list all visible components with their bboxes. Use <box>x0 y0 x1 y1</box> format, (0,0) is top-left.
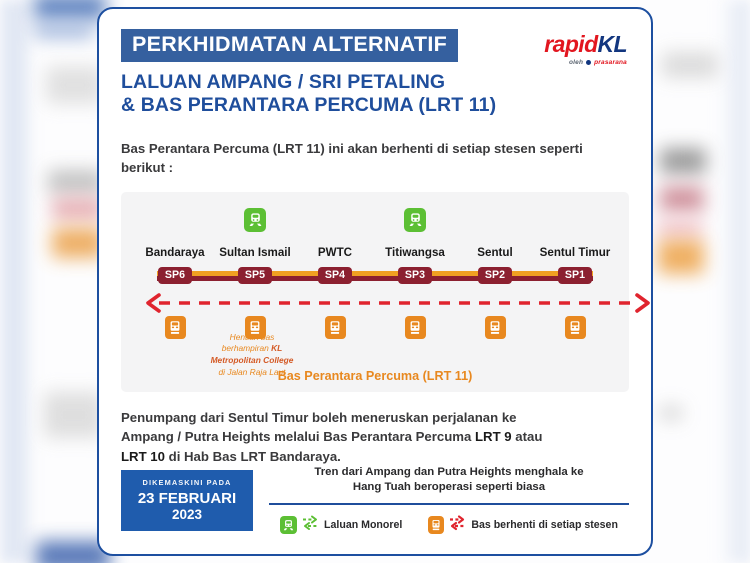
bus-icon <box>485 316 506 339</box>
page-subtitle: LALUAN AMPANG / SRI PETALING & BAS PERAN… <box>121 71 496 117</box>
body-line-1: Penumpang dari Sentul Timur boleh meneru… <box>121 408 629 428</box>
background-blob <box>658 218 702 240</box>
station-code-badge: SP1 <box>558 267 592 284</box>
monorail-slot <box>295 202 375 232</box>
title-block: PERKHIDMATAN ALTERNATIF LALUAN AMPANG / … <box>121 27 496 117</box>
body-line-2: Ampang / Putra Heights melalui Bas Peran… <box>121 427 629 447</box>
lrt-track: SP6 SP5 SP4 SP3 SP2 SP1 <box>135 265 615 287</box>
logo-tagline: oleh prasarana <box>544 59 627 66</box>
monorail-icon <box>280 516 297 534</box>
station-code-cell: SP3 <box>375 265 455 287</box>
station-name: Sentul <box>455 232 535 264</box>
last-updated-label: DIKEMASKINI PADA <box>127 478 247 487</box>
bus-icon <box>565 316 586 339</box>
legend-item-monorail: Laluan Monorel <box>280 514 402 536</box>
bus-stop-cell <box>455 316 535 339</box>
background-blob <box>46 66 104 104</box>
last-updated-date: 23 FEBRUARI <box>127 491 247 507</box>
logo-rapid-text: rapid <box>544 31 597 57</box>
station-code-cell: SP2 <box>455 265 535 287</box>
background-left-strip <box>0 0 32 563</box>
bus-direction-arrow <box>135 292 615 314</box>
bus-icon <box>405 316 426 339</box>
prasarana-dot-icon <box>586 60 591 65</box>
last-updated-year: 2023 <box>127 507 247 523</box>
last-updated-box: DIKEMASKINI PADA 23 FEBRUARI 2023 <box>121 470 253 531</box>
logo-wordmark: rapidKL <box>544 33 627 56</box>
red-dashed-arrows-icon <box>449 514 466 536</box>
legend: Laluan Monorel <box>269 514 629 536</box>
note-line-3: Metropolitan College <box>177 355 327 367</box>
station-code-badge: SP2 <box>478 267 512 284</box>
station-code-badge: SP4 <box>318 267 352 284</box>
intro-line-1: Bas Perantara Percuma (LRT 11) ini akan … <box>121 139 629 159</box>
station-name: Bandaraya <box>135 232 215 264</box>
background-blob <box>662 52 718 78</box>
bus-stop-cell <box>375 316 455 339</box>
background-blob <box>48 170 104 194</box>
logo-tagline-prefix: oleh <box>569 59 583 66</box>
body-line-2-a: Ampang / Putra Heights melalui Bas Peran… <box>121 429 475 444</box>
monorail-icon <box>244 208 266 232</box>
station-code-badge: SP6 <box>158 267 192 284</box>
monorail-icon-row <box>135 202 615 232</box>
green-dashed-arrows-icon <box>302 514 319 536</box>
legend-item-bus: Bas berhenti di setiap stesen <box>428 514 618 536</box>
footer-divider <box>269 503 629 505</box>
logo-tagline-brand: prasarana <box>594 59 627 66</box>
station-code-cell: SP5 <box>215 265 295 287</box>
station-name: Sultan Ismail <box>215 232 295 264</box>
bus-stop-cell <box>535 316 615 339</box>
diagram-caption: Bas Perantara Percuma (LRT 11) <box>121 369 629 383</box>
rapidkl-logo: rapidKL oleh prasarana <box>544 27 629 66</box>
footer-right: Tren dari Ampang dan Putra Heights mengh… <box>269 465 629 536</box>
card-header: PERKHIDMATAN ALTERNATIF LALUAN AMPANG / … <box>121 27 629 117</box>
background-blob <box>658 240 704 274</box>
note-line-3-bold: Metropolitan College <box>211 355 294 365</box>
monorail-icon <box>404 208 426 232</box>
body-line-2-lrt9: LRT 9 <box>475 429 512 444</box>
background-right-strip <box>720 0 750 563</box>
intro-text: Bas Perantara Percuma (LRT 11) ini akan … <box>121 139 629 178</box>
announcement-card: PERKHIDMATAN ALTERNATIF LALUAN AMPANG / … <box>97 7 653 556</box>
station-name-row: Bandaraya Sultan Ismail PWTC Titiwangsa … <box>135 232 615 264</box>
legend-label-bus: Bas berhenti di setiap stesen <box>471 519 618 531</box>
background-blob <box>660 148 706 174</box>
monorail-slot <box>535 202 615 232</box>
subtitle-line-2: & BAS PERANTARA PERCUMA (LRT 11) <box>121 94 496 117</box>
station-name: Titiwangsa <box>375 232 455 264</box>
station-code-cell: SP1 <box>535 265 615 287</box>
background-blob <box>660 186 704 212</box>
monorail-slot <box>375 202 455 232</box>
station-code-badge: SP5 <box>238 267 272 284</box>
background-blob <box>44 392 104 438</box>
bus-icon <box>325 316 346 339</box>
train-service-note: Tren dari Ampang dan Putra Heights mengh… <box>269 465 629 495</box>
note-line-2: berhampiran KL <box>177 343 327 355</box>
monorail-slot <box>215 202 295 232</box>
train-note-line-2: Hang Tuah beroperasi seperti biasa <box>269 480 629 495</box>
background-blob <box>34 0 106 20</box>
monorail-slot <box>135 202 215 232</box>
route-diagram-panel: Bandaraya Sultan Ismail PWTC Titiwangsa … <box>121 192 629 392</box>
legend-label-monorail: Laluan Monorel <box>324 519 402 531</box>
card-footer: DIKEMASKINI PADA 23 FEBRUARI 2023 Tren d… <box>121 465 629 536</box>
note-line-2-bold: KL <box>271 343 282 353</box>
station-code-row: SP6 SP5 SP4 SP3 SP2 SP1 <box>135 265 615 287</box>
station-code-badge: SP3 <box>398 267 432 284</box>
station-name: Sentul Timur <box>535 232 615 264</box>
station-name: PWTC <box>295 232 375 264</box>
station-code-cell: SP6 <box>135 265 215 287</box>
intro-line-2: berikut : <box>121 158 629 178</box>
note-line-1: Hentian bas <box>177 332 327 344</box>
subtitle-line-1: LALUAN AMPANG / SRI PETALING <box>121 71 496 94</box>
background-blob <box>34 24 94 38</box>
train-note-line-1: Tren dari Ampang dan Putra Heights mengh… <box>269 465 629 480</box>
body-paragraph: Penumpang dari Sentul Timur boleh meneru… <box>121 408 629 467</box>
station-code-cell: SP4 <box>295 265 375 287</box>
body-line-3-b: di Hab Bas LRT Bandaraya. <box>165 449 341 464</box>
page-title: PERKHIDMATAN ALTERNATIF <box>121 29 458 62</box>
body-line-2-c: atau <box>512 429 543 444</box>
note-line-2-plain: berhampiran <box>222 343 271 353</box>
logo-kl-text: KL <box>598 31 627 57</box>
body-line-3-lrt10: LRT 10 <box>121 449 165 464</box>
background-blob <box>660 406 682 420</box>
monorail-slot <box>455 202 535 232</box>
bus-icon <box>428 516 444 534</box>
